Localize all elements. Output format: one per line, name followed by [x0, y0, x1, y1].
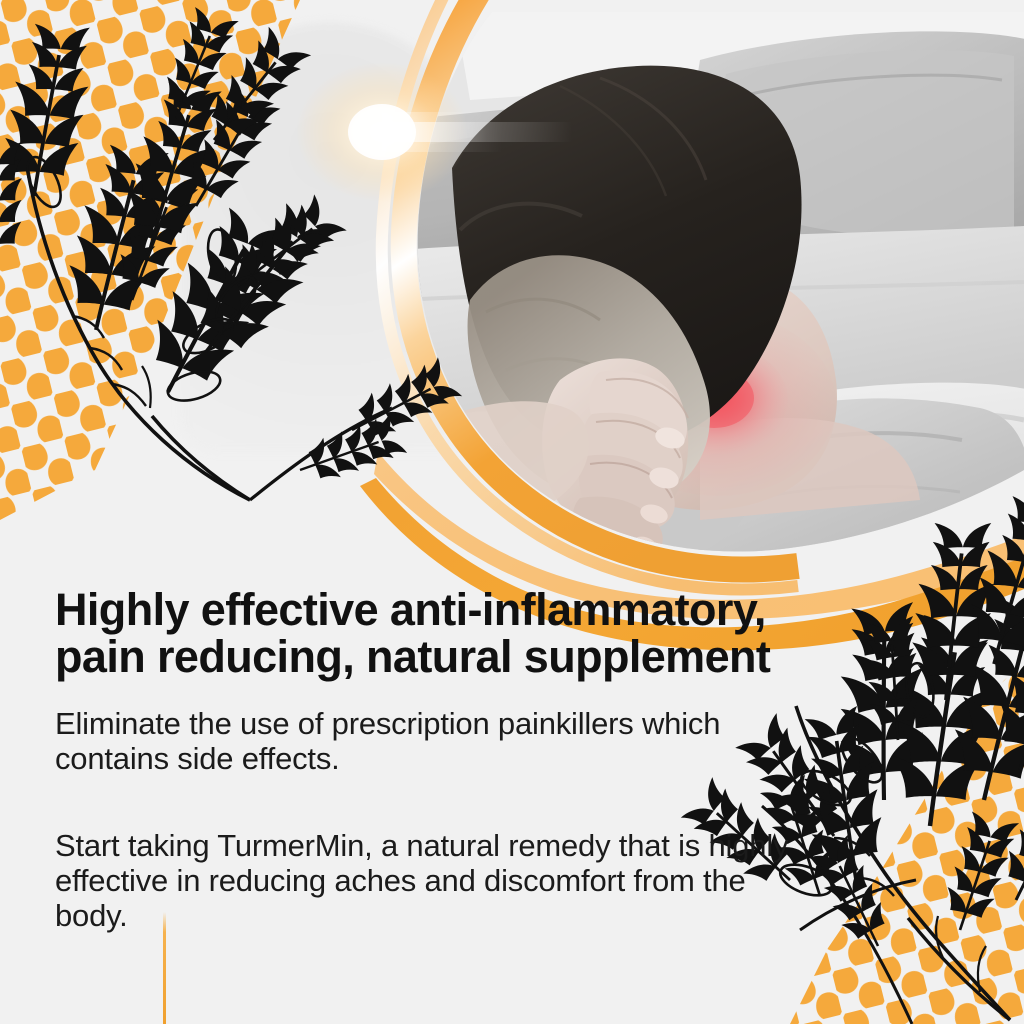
body-paragraph-1: Eliminate the use of prescription painki…: [55, 706, 795, 776]
copy-block: Highly effective anti-inflammatory, pain…: [55, 586, 795, 933]
headline-line-2: pain reducing, natural supplement: [55, 633, 795, 680]
hero-photo: [400, 0, 1024, 600]
poster-canvas: Highly effective anti-inflammatory, pain…: [0, 0, 1024, 1024]
background-arch-shape: [180, 22, 480, 452]
body-paragraph-2: Start taking TurmerMin, a natural remedy…: [55, 828, 795, 933]
vertical-accent-rule: [163, 912, 166, 1024]
headline: Highly effective anti-inflammatory, pain…: [55, 586, 795, 680]
headline-line-1: Highly effective anti-inflammatory,: [55, 584, 766, 635]
